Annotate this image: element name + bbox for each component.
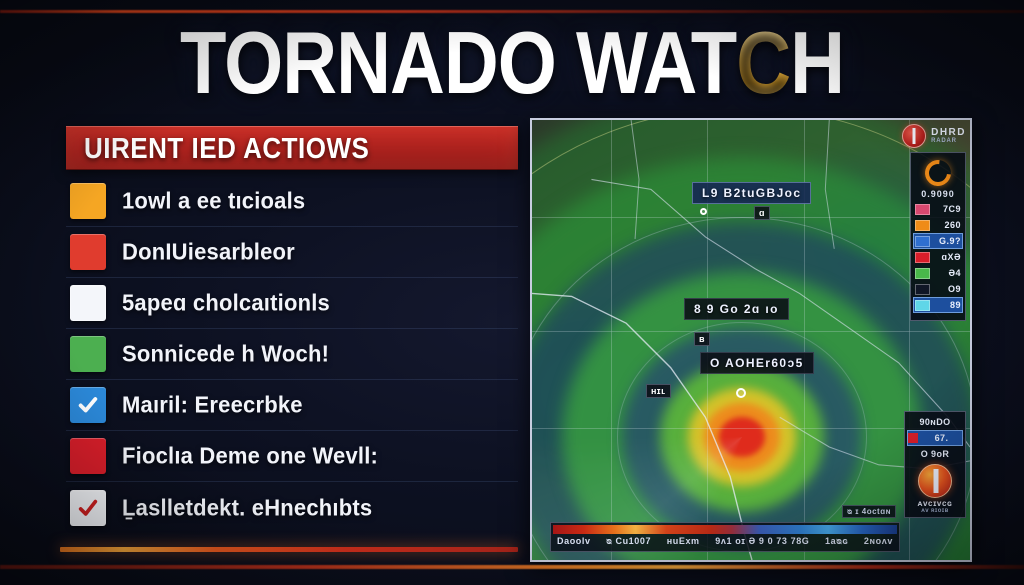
title-tail: H (790, 14, 844, 113)
list-item[interactable]: 5apeɑ cholcaıtionls (66, 278, 518, 329)
list-item-label: 5apeɑ cholcaıtionls (122, 289, 330, 317)
orange-swatch (915, 220, 930, 231)
checkmark-icon (77, 497, 99, 519)
green-swatch (915, 268, 930, 279)
list-item[interactable]: Sonnicede h Woch! (66, 329, 518, 380)
radar-brand: DHRD RADAR (902, 124, 966, 148)
brand-line-2: RADAR (931, 138, 966, 144)
map-label: L9 B2tuGBJoc (692, 182, 811, 204)
brand-badge-icon (902, 124, 926, 148)
scale-label: 9ʌ1 ᴏɪ Ə 9 0 73 78G (715, 536, 809, 546)
list-item-label: Ḻaslletdekt. eHnechıbts (122, 494, 372, 522)
info-row[interactable]: O 9ᴏR (908, 447, 962, 461)
list-item[interactable]: Ḻaslletdekt. eHnechıbts (66, 482, 518, 533)
checkmark-icon (77, 394, 99, 416)
list-item-label: DonIUiesarbleor (122, 238, 295, 266)
scale-tag: ᴓ ɪ 4ᴏᴄtɑɴ (842, 505, 896, 518)
legend-value: O9 (933, 284, 961, 294)
panel-accent-underline (60, 547, 518, 552)
title-accent-letter: C (736, 14, 790, 113)
pink-swatch (915, 204, 930, 215)
map-small-tag: ʜɪʟ (646, 384, 671, 398)
brand-line-1: DHRD (931, 128, 966, 139)
red-indicator-icon (908, 433, 918, 443)
legend-value: 7C9 (933, 204, 961, 214)
legend-row[interactable]: Ə4 (914, 266, 962, 280)
info-value: 90ɴDO (908, 417, 962, 427)
scale-label: 1aᴓɢ (825, 536, 848, 546)
legend-row[interactable]: 89 (914, 298, 962, 312)
scale-label: ᴓ Cu1007 (606, 536, 651, 546)
reflectivity-scale: Daoolv ᴓ Cu1007 ʜuExm 9ʌ1 ᴏɪ Ə 9 0 73 78… (550, 522, 900, 552)
scale-label: Daoolv (557, 536, 591, 546)
dark-swatch (915, 284, 930, 295)
list-item-label: 1owl a ee tıcioals (122, 187, 305, 215)
weather-alert-graphic: TORNADO WATCH UIRENT IED ACTIOWS 1owl a … (0, 0, 1024, 585)
info-value: 67. (921, 433, 962, 443)
legend-value: G.9? (933, 236, 961, 246)
white-square-swatch (70, 285, 106, 321)
urgent-actions-panel: UIRENT IED ACTIOWS 1owl a ee tıcioals Do… (66, 126, 518, 538)
legend-value: 260 (933, 220, 961, 230)
list-item[interactable]: Maıril: Ereecrbke (66, 380, 518, 431)
cyan-swatch (915, 300, 930, 311)
title-main: TORNADO WAT (180, 14, 736, 113)
orange-square-swatch (70, 183, 106, 219)
list-item[interactable]: DonIUiesarbleor (66, 227, 518, 278)
legend-row[interactable]: ɑXƏ (914, 250, 962, 264)
white-checkbox-red-check[interactable] (70, 490, 106, 526)
page-title: TORNADO WATCH (0, 14, 1024, 112)
blue-swatch (915, 236, 930, 247)
map-small-tag: ɑ (754, 206, 770, 220)
c-logo-icon (920, 155, 956, 191)
scale-label-row: Daoolv ᴓ Cu1007 ʜuExm 9ʌ1 ᴏɪ Ə 9 0 73 78… (553, 536, 897, 546)
action-list: 1owl a ee tıcioals DonIUiesarbleor 5apeɑ… (66, 176, 518, 533)
legend-row[interactable]: 260 (914, 218, 962, 232)
panel-header-label: UIRENT IED ACTIOWS (66, 131, 369, 165)
list-item-label: Maıril: Ereecrbke (122, 391, 303, 419)
radar-legend-panel[interactable]: 0.9090 7C9 260 G.9? ɑXƏ Ə4 (910, 152, 966, 321)
legend-row[interactable]: O9 (914, 282, 962, 296)
map-label: 8 9 Go 2ɑ ıo (684, 298, 789, 320)
panel-header-bar: UIRENT IED ACTIOWS (66, 126, 518, 170)
crimson-square-swatch (70, 438, 106, 474)
city-marker (700, 208, 707, 215)
info-row[interactable]: 90ɴDO (908, 415, 962, 429)
radar-info-panel[interactable]: 90ɴDO 67. O 9ᴏR ᴀᴠᴄɪᴠᴄɢ ᴀᴠ ʀɪᴏɪʙ (904, 411, 966, 518)
radar-map-panel[interactable]: L9 B2tuGBJoc ɑ 8 9 Go 2ɑ ıo ʙ O AOHEr60ɔ… (530, 118, 972, 562)
legend-row[interactable]: G.9? (914, 234, 962, 248)
list-item-label: Fioclıa Deme one Wevll: (122, 442, 378, 470)
info-caption: ᴀᴠᴄɪᴠᴄɢ (908, 499, 962, 508)
green-square-swatch (70, 336, 106, 372)
info-caption-secondary: ᴀᴠ ʀɪᴏɪʙ (908, 508, 962, 514)
legend-title: 0.9090 (914, 187, 962, 202)
list-item[interactable]: 1owl a ee tıcioals (66, 176, 518, 227)
scale-label: 2ɴᴏʌv (864, 536, 893, 546)
scale-gradient (553, 525, 897, 534)
map-small-tag: ʙ (694, 332, 710, 346)
legend-value: ɑXƏ (933, 252, 961, 262)
legend-value: 89 (933, 300, 961, 310)
red-swatch (915, 252, 930, 263)
list-item-label: Sonnicede h Woch! (122, 340, 329, 368)
info-row[interactable]: 67. (908, 431, 962, 445)
blue-checkbox-checked[interactable] (70, 387, 106, 423)
legend-value: Ə4 (933, 268, 961, 278)
list-item[interactable]: Fioclıa Deme one Wevll: (66, 431, 518, 482)
legend-row[interactable]: 7C9 (914, 202, 962, 216)
info-value: O 9ᴏR (908, 449, 962, 459)
map-label: O AOHEr60ɔ5 (700, 352, 814, 374)
bottom-accent-line (0, 565, 1024, 569)
red-square-swatch (70, 234, 106, 270)
legend-logo (914, 157, 962, 187)
scale-label: ʜuExm (667, 536, 700, 546)
storm-center-marker (736, 388, 746, 398)
station-logo-icon (918, 464, 952, 498)
